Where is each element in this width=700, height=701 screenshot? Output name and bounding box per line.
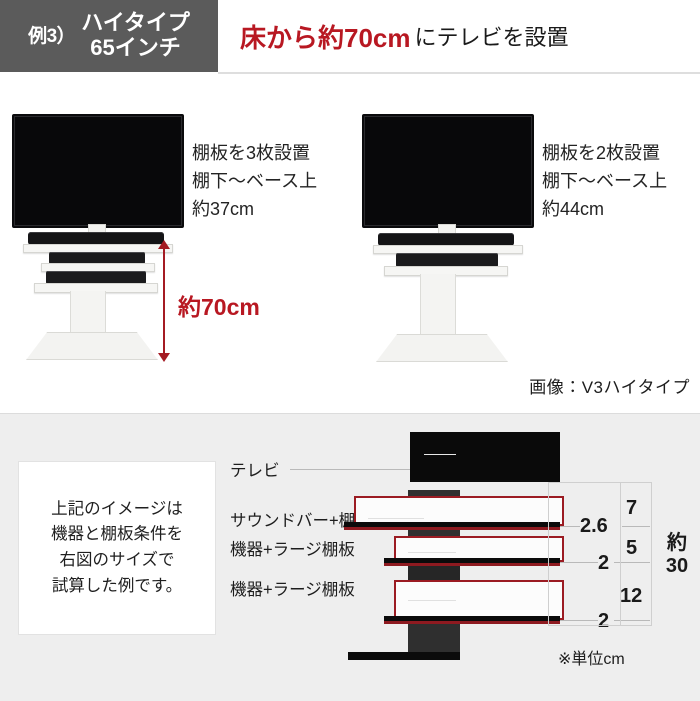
left-note-line-3: 約37cm [192,196,254,222]
leader-line-tv-inner [424,454,456,455]
total-label-approx: 約 [667,532,687,554]
diagram-label-tv: テレビ [230,463,280,480]
height-arrow [158,240,170,362]
dimension-section: 上記のイメージは 機器と棚板条件を 右図のサイズで 試算した例です。 テレビ サ… [0,413,700,701]
shelf-bar-1 [344,522,560,527]
segment-value-2: 5 [626,538,637,558]
header-badge-lines: ハイタイプ 65インチ [81,11,190,60]
arrow-shaft [163,248,165,354]
info-box-line-4: 試算した例です。 [52,574,182,600]
arrow-head-bottom-icon [158,353,170,362]
diagram-label-device-1: 機器+ラージ棚板 [230,542,355,559]
tv-screen-icon [362,114,534,228]
header-badge-type: ハイタイプ [81,11,190,36]
header-divider [218,72,700,74]
header-badge-example: 例3） [28,27,81,46]
device-1 [396,253,498,267]
dimension-diagram: テレビ サウンドバー+棚板 機器+ラージ棚板 機器+ラージ棚板 [228,414,700,701]
header-title: 床から約70cm にテレビを設置 [240,0,569,72]
left-note-line-1: 棚板を3枚設置 [192,140,310,166]
header-badge-size: 65インチ [90,36,180,61]
stand-post [420,274,456,342]
infographic-page: 例3） ハイタイプ 65インチ 床から約70cm にテレビを設置 [0,0,700,700]
header-title-rest: にテレビを設置 [411,20,569,52]
header-title-highlight: 床から約70cm [240,18,411,55]
tv-screen-icon [12,114,184,228]
info-box-line-1: 上記のイメージは [51,497,183,523]
header: 例3） ハイタイプ 65インチ 床から約70cm にテレビを設置 [0,0,700,76]
header-badge: 例3） ハイタイプ 65インチ [0,0,218,72]
photo-panel-left: 約70cm 棚板を3枚設置 棚下～ベース上 約37cm [0,92,350,402]
diagram-label-device-2: 機器+ラージ棚板 [230,582,355,599]
total-label-number: 30 [666,555,688,577]
photo-panels: 約70cm 棚板を3枚設置 棚下～ベース上 約37cm 棚板を2枚設置 棚下～ベ… [0,92,700,402]
info-box-line-2: 機器と棚板条件を [51,522,183,548]
leader-line-tv [290,469,414,470]
right-note-line-1: 棚板を2枚設置 [542,140,660,166]
right-note-line-3: 約44cm [542,196,604,222]
segment-value-3: 12 [620,586,642,606]
right-note-line-2: 棚下～ベース上 [542,168,667,194]
leader-line-shelf-2 [408,552,456,553]
left-note-line-2: 棚下～ベース上 [192,168,317,194]
info-box: 上記のイメージは 機器と棚板条件を 右図のサイズで 試算した例です。 [18,461,216,635]
unit-note: ※単位cm [558,645,625,669]
stand-base [26,332,158,360]
leader-line-shelf-3 [408,600,456,601]
segment-value-1: 7 [626,498,637,518]
shelf-bar-3 [384,616,560,621]
total-value: 約 30 [660,532,694,578]
base-bar [348,652,460,660]
photo-panel-right: 棚板を2枚設置 棚下～ベース上 約44cm 画像：V3ハイタイプ [350,92,700,402]
image-caption: 画像：V3ハイタイプ [529,373,690,398]
stand-base [376,334,508,362]
height-arrow-label: 約70cm [178,288,260,322]
info-box-line-3: 右図のサイズで [59,548,174,574]
shelf-bar-2 [384,558,560,563]
leader-line-shelf-1 [368,518,424,519]
tv-block [410,432,560,482]
